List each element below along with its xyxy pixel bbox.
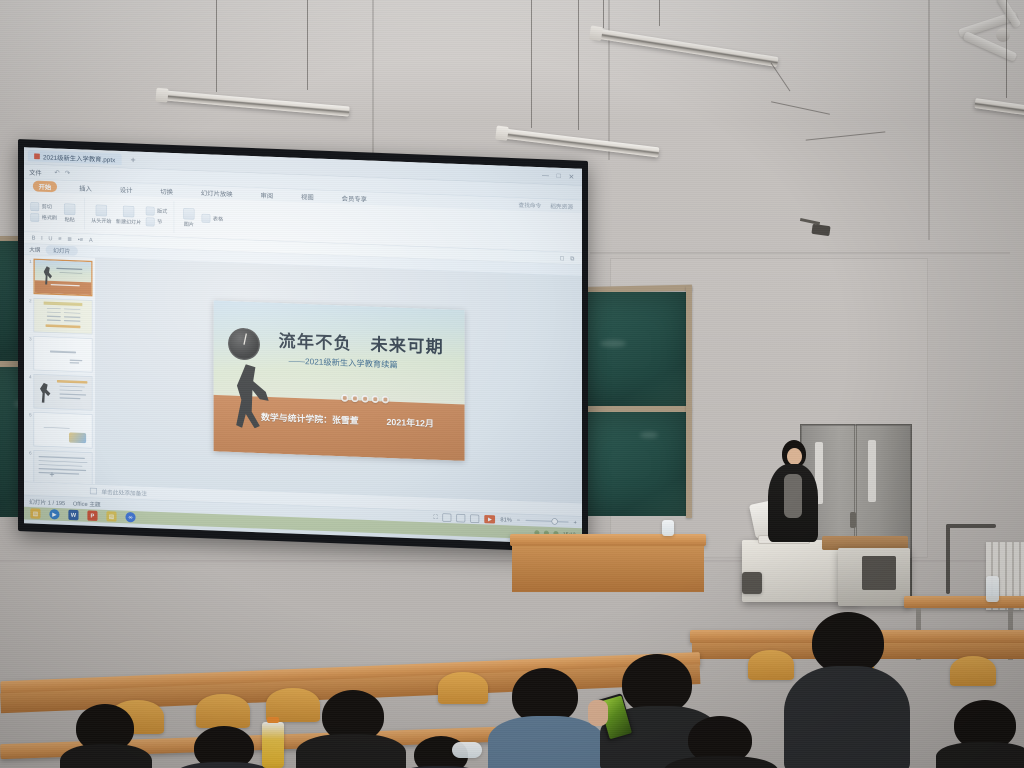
ribbon-tab-member[interactable]: 会员专享 (336, 192, 373, 204)
wps-cloud-icon[interactable]: ∞ (125, 512, 135, 523)
start-slideshow-button[interactable]: ▶ (485, 515, 496, 524)
audience-member (488, 668, 604, 768)
font-italic-icon[interactable]: I (41, 235, 43, 241)
front-desk-panel (512, 546, 704, 592)
view-reading-icon[interactable] (471, 514, 480, 523)
quick-access-toolbar[interactable]: ↶ ↷ (54, 169, 70, 177)
slides-tab[interactable]: 幻灯片 (46, 245, 78, 256)
thumbnail-preview (34, 412, 93, 449)
add-slide-button[interactable]: + (49, 469, 54, 479)
thumbnail-number: 6 (27, 450, 32, 484)
desk-row (904, 596, 1024, 608)
zoom-slider-handle[interactable] (552, 519, 557, 524)
bottle-cap (267, 717, 279, 723)
thumbnail-preview (34, 259, 93, 297)
ribbon-tab-design[interactable]: 设计 (114, 183, 138, 195)
wps-presentation-window[interactable]: 2021级新生入学教育.pptx + — □ ✕ 文件 ↶ (24, 147, 582, 523)
minimize-button[interactable]: — (542, 171, 549, 180)
water-bottle (662, 520, 674, 536)
ribbon-tab-home[interactable]: 开始 (33, 180, 57, 192)
wall-seam (608, 0, 610, 160)
powerpoint-icon[interactable]: P (87, 510, 97, 521)
table-label: 表格 (213, 215, 223, 222)
scanner-icon[interactable]: ▤ (106, 511, 116, 522)
arrange-icon[interactable]: ⧉ (570, 255, 574, 262)
start-from-beginning-command[interactable]: 从头开始 (91, 204, 111, 224)
thumbnail-number: 1 (27, 258, 32, 294)
maximize-button[interactable]: □ (557, 172, 561, 180)
scissors-icon (30, 202, 39, 211)
pptx-file-icon (34, 153, 40, 159)
thumbnail-number: 2 (27, 298, 32, 332)
audience-member (60, 704, 152, 768)
undo-icon[interactable]: ↶ (54, 169, 59, 176)
search-icon[interactable]: 查找命令 (519, 200, 542, 209)
section-label: 节 (157, 218, 162, 225)
redo-icon[interactable]: ↷ (65, 169, 70, 176)
thumbnail-item[interactable]: 5 (27, 412, 93, 449)
resource-link[interactable]: 稻壳资源 (550, 201, 573, 210)
window-controls[interactable]: — □ ✕ (542, 171, 578, 181)
doc-badge-icon (382, 396, 390, 404)
thumbnail-item[interactable]: 2 (27, 298, 93, 335)
refresh-badge-icon (351, 394, 359, 402)
format-painter-label: 格式刷 (42, 214, 57, 222)
zoom-level: 81% (500, 516, 511, 523)
from-beginning-label: 从头开始 (91, 217, 111, 225)
slide-counter: 幻灯片 1 / 195 (29, 497, 65, 507)
thumbnail-number: 5 (27, 412, 32, 446)
clipboard-icon (64, 203, 75, 215)
chair (950, 656, 996, 686)
picture-label: 图片 (184, 220, 194, 227)
paste-command[interactable]: 粘贴 (61, 203, 77, 223)
thumbnail-number: 3 (27, 336, 32, 370)
paste-label: 粘贴 (65, 216, 75, 223)
ceiling-fan (952, 6, 1024, 70)
ribbon-group-clipboard: 剪切 格式刷 粘贴 (30, 196, 85, 230)
document-tab[interactable]: 2021级新生入学教育.pptx (28, 150, 122, 165)
home-badge-icon (341, 394, 349, 402)
picture-command[interactable]: 图片 (181, 208, 197, 228)
wall-seam (590, 252, 1010, 254)
menu-file[interactable]: 文件 (29, 167, 42, 177)
shape-fill-icon[interactable]: ◻ (560, 254, 565, 261)
format-painter-command[interactable]: 格式刷 (30, 213, 57, 223)
ribbon-tab-review[interactable]: 审阅 (255, 189, 279, 201)
slide-editing-stage[interactable]: 流年不负 未来可期 ——2021级新生入学教育续篇 数学与统计学院：张雪萱 (96, 258, 582, 503)
media-player-icon[interactable]: ▶ (49, 509, 59, 520)
bullet-list-icon[interactable]: •≡ (78, 236, 83, 243)
chair (438, 672, 488, 704)
document-tab-label: 2021级新生入学教育.pptx (43, 151, 115, 163)
ribbon-tab-insert[interactable]: 插入 (73, 182, 97, 194)
ribbon-tab-transition[interactable]: 切换 (155, 185, 179, 197)
thumbnail-item[interactable]: 1 (27, 258, 93, 296)
wall-seam (928, 0, 930, 240)
thumbnail-item[interactable]: 3 (27, 336, 93, 373)
thumbnail-preview (34, 298, 93, 335)
new-slide-label: 新建幻灯片 (116, 218, 141, 226)
text-color-icon[interactable]: A (89, 237, 93, 243)
zoom-in-button[interactable]: + (574, 519, 577, 525)
earbuds-case (452, 742, 482, 758)
layout-label: 版式 (157, 208, 167, 215)
thumbnail-item[interactable]: 4 (27, 374, 93, 411)
front-desk (510, 534, 706, 546)
thumbnail-preview (34, 450, 93, 484)
ribbon-tab-slideshow[interactable]: 幻灯片放映 (195, 187, 238, 199)
table-command[interactable]: 表格 (202, 214, 224, 224)
word-icon[interactable]: W (68, 510, 78, 521)
thumbnail-item[interactable]: 6 (27, 450, 93, 484)
new-slide-command[interactable]: 新建幻灯片 (116, 205, 141, 226)
ribbon-group-insert: 图片 表格 (181, 201, 230, 235)
clock-head-icon (228, 328, 259, 361)
projection-screen: 2021级新生入学教育.pptx + — □ ✕ 文件 ↶ (18, 150, 588, 542)
lecture-hall-photo: 2021级新生入学教育.pptx + — □ ✕ 文件 ↶ (0, 0, 1024, 768)
podium-panel (862, 556, 896, 590)
new-slide-icon (123, 205, 134, 217)
ribbon-tab-view[interactable]: 视图 (295, 190, 319, 202)
font-underline-icon[interactable]: U (48, 235, 52, 241)
audience-member (936, 700, 1024, 768)
theme-label: Office 主题 (73, 499, 101, 508)
wall-pipe (946, 524, 950, 594)
side-chair (742, 572, 762, 594)
file-explorer-icon[interactable]: ▤ (30, 508, 40, 519)
layout-icon (146, 206, 155, 215)
play-icon (96, 204, 107, 216)
fit-to-window-icon[interactable]: ⛶ (434, 513, 438, 520)
layout-command[interactable]: 版式 (146, 206, 168, 216)
presenter (762, 440, 822, 548)
align-left-icon[interactable]: ≡ (58, 235, 61, 241)
cut-command[interactable]: 剪切 (30, 202, 57, 212)
picture-icon (183, 208, 194, 220)
water-bottle (986, 576, 999, 602)
chart-badge-icon (362, 395, 370, 403)
editor-body: 1 2 (24, 255, 582, 503)
ribbon-group-slides: 从头开始 新建幻灯片 版式 (91, 198, 174, 233)
font-bold-icon[interactable]: B (32, 234, 36, 240)
cut-label: 剪切 (42, 203, 52, 210)
search-badge-icon (372, 395, 380, 403)
view-sorter-icon[interactable] (457, 514, 466, 523)
align-center-icon[interactable]: ≣ (67, 235, 72, 242)
new-tab-button[interactable]: + (125, 154, 140, 165)
section-icon (146, 217, 155, 226)
projected-image: 2021级新生入学教育.pptx + — □ ✕ 文件 ↶ (24, 147, 582, 544)
thumbnail-preview (34, 336, 93, 373)
ceiling-light-wash (0, 0, 1024, 120)
view-normal-icon[interactable] (443, 513, 452, 522)
security-camera (798, 218, 832, 240)
zoom-slider[interactable] (525, 520, 568, 523)
zoom-out-button[interactable]: − (517, 517, 520, 523)
notes-placeholder: 单击此处添加备注 (101, 487, 147, 497)
wall-pipe (946, 524, 996, 528)
audience-member (664, 716, 778, 768)
slide-thumbnail-panel[interactable]: 1 2 (24, 255, 96, 484)
table-icon (202, 214, 211, 223)
close-button[interactable]: ✕ (568, 172, 574, 180)
juice-bottle (262, 722, 284, 768)
audience-member (172, 726, 276, 768)
slide-date: 2021年12月 (386, 415, 433, 429)
audience-member (784, 612, 910, 768)
hand (588, 700, 608, 726)
thumbnail-preview (34, 374, 93, 411)
outline-tab[interactable]: 大纲 (29, 245, 40, 254)
audience-member (296, 690, 406, 768)
thumbnail-number: 4 (27, 374, 32, 408)
chair (196, 694, 250, 728)
notes-icon (90, 488, 97, 495)
section-command[interactable]: 节 (146, 217, 168, 227)
brush-icon (30, 213, 39, 222)
current-slide[interactable]: 流年不负 未来可期 ——2021级新生入学教育续篇 数学与统计学院：张雪萱 (213, 300, 464, 461)
